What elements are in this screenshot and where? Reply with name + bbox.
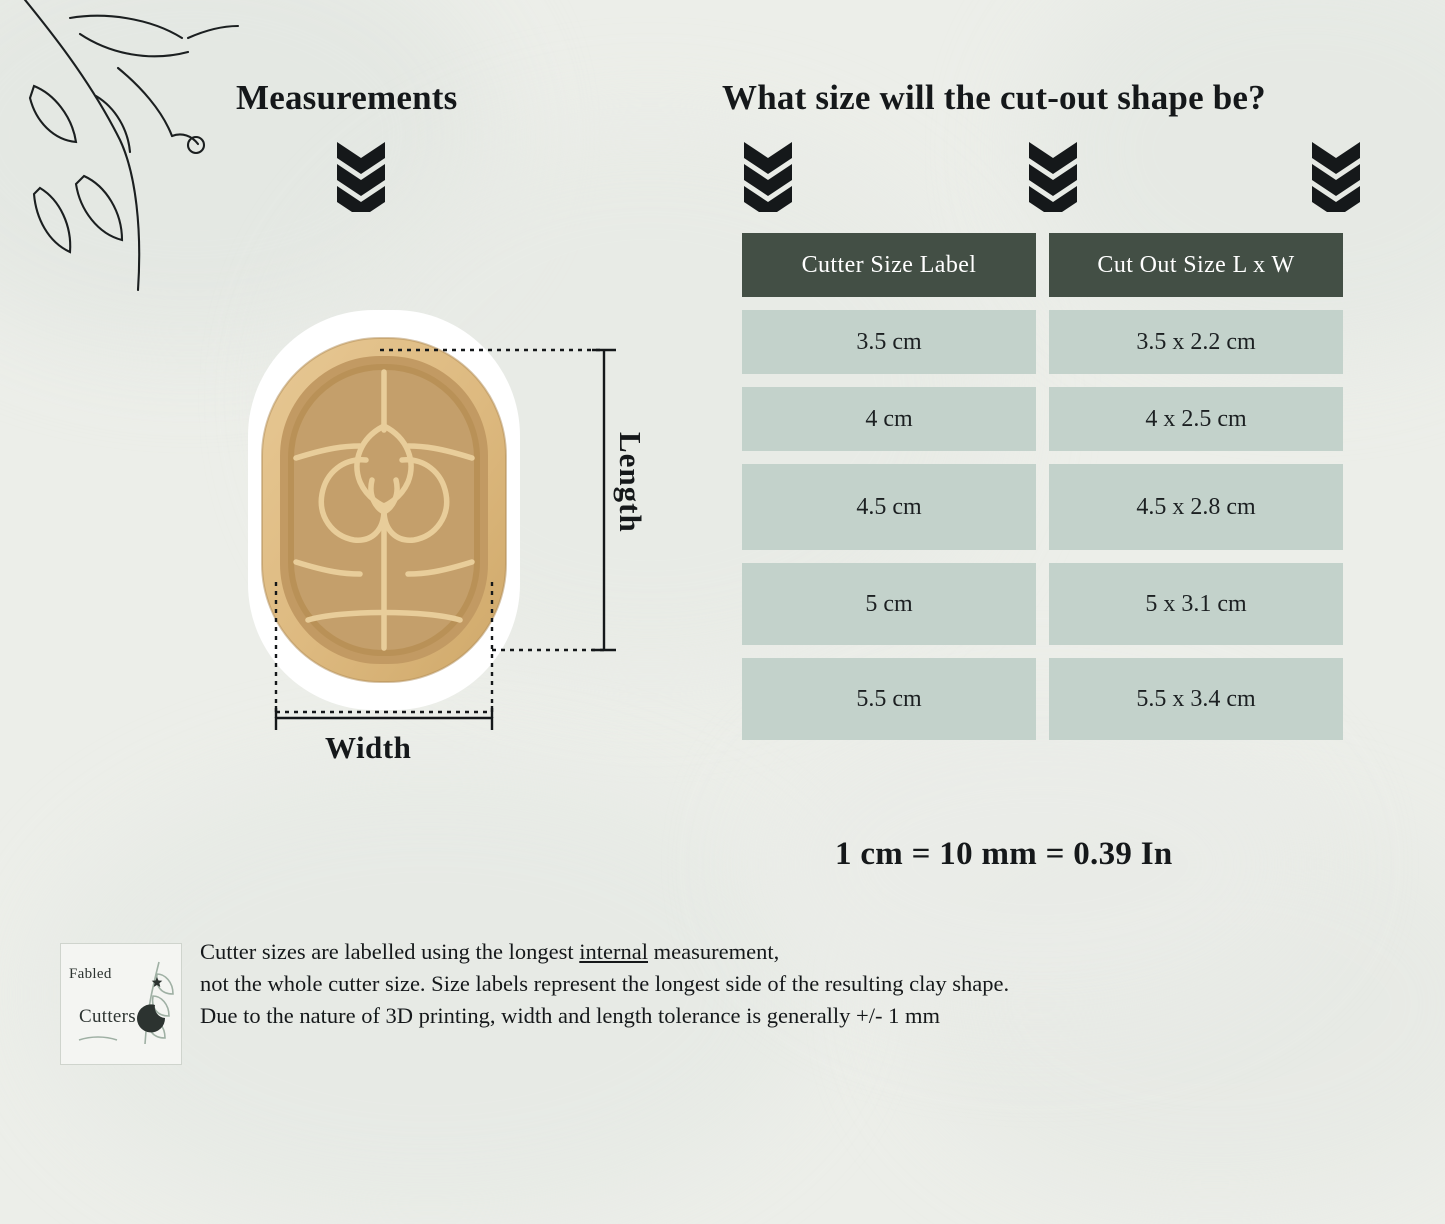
logo-text-bottom: Cutters [79, 1006, 136, 1028]
chevron-down-icon [333, 140, 389, 212]
chevron-down-icon [1025, 140, 1081, 212]
footer-disclaimer: Cutter sizes are labelled using the long… [200, 936, 1270, 1032]
cell-cutout-size: 3.5 x 2.2 cm [1049, 310, 1343, 374]
chevron-down-icon [1308, 140, 1364, 212]
cell-cutout-size: 5.5 x 3.4 cm [1049, 658, 1343, 740]
cell-cutout-size: 5 x 3.1 cm [1049, 563, 1343, 645]
botanical-sprig-illustration [10, 0, 300, 300]
page-title-measurements: Measurements [236, 78, 457, 118]
brand-logo: Fabled Cutters [60, 943, 182, 1065]
table-row: 5 cm 5 x 3.1 cm [742, 563, 1343, 645]
table-row: 4.5 cm 4.5 x 2.8 cm [742, 464, 1343, 550]
page-title-cutout-size: What size will the cut-out shape be? [722, 78, 1266, 118]
table-row: 4 cm 4 x 2.5 cm [742, 387, 1343, 451]
dimension-annotations [230, 320, 650, 760]
cell-cutter-size: 5.5 cm [742, 658, 1036, 740]
footer-line-1: Cutter sizes are labelled using the long… [200, 936, 1270, 968]
cell-cutter-size: 4.5 cm [742, 464, 1036, 550]
width-dimension-label: Width [325, 730, 411, 766]
footer-line-1b: measurement, [648, 939, 779, 964]
length-dimension-label: Length [612, 432, 648, 533]
table-row: 5.5 cm 5.5 x 3.4 cm [742, 658, 1343, 740]
unit-conversion-note: 1 cm = 10 mm = 0.39 In [835, 836, 1173, 873]
cell-cutter-size: 5 cm [742, 563, 1036, 645]
cell-cutout-size: 4.5 x 2.8 cm [1049, 464, 1343, 550]
footer-line-2: not the whole cutter size. Size labels r… [200, 968, 1270, 1000]
footer-line-1a: Cutter sizes are labelled using the long… [200, 939, 579, 964]
chevron-down-icon [740, 140, 796, 212]
cell-cutter-size: 3.5 cm [742, 310, 1036, 374]
logo-leaf-icon [61, 944, 179, 1062]
table-column-header-cutout-size: Cut Out Size L x W [1049, 233, 1343, 297]
footer-line-1-underlined: internal [579, 939, 648, 964]
cell-cutter-size: 4 cm [742, 387, 1036, 451]
size-table: Cutter Size Label Cut Out Size L x W 3.5… [742, 233, 1343, 753]
table-header-row: Cutter Size Label Cut Out Size L x W [742, 233, 1343, 297]
infographic-page: Measurements What size will the cut-out … [0, 0, 1445, 1084]
cell-cutout-size: 4 x 2.5 cm [1049, 387, 1343, 451]
footer-line-3: Due to the nature of 3D printing, width … [200, 1000, 1270, 1032]
table-column-header-cutter-size: Cutter Size Label [742, 233, 1036, 297]
logo-text-top: Fabled [69, 966, 112, 983]
table-row: 3.5 cm 3.5 x 2.2 cm [742, 310, 1343, 374]
